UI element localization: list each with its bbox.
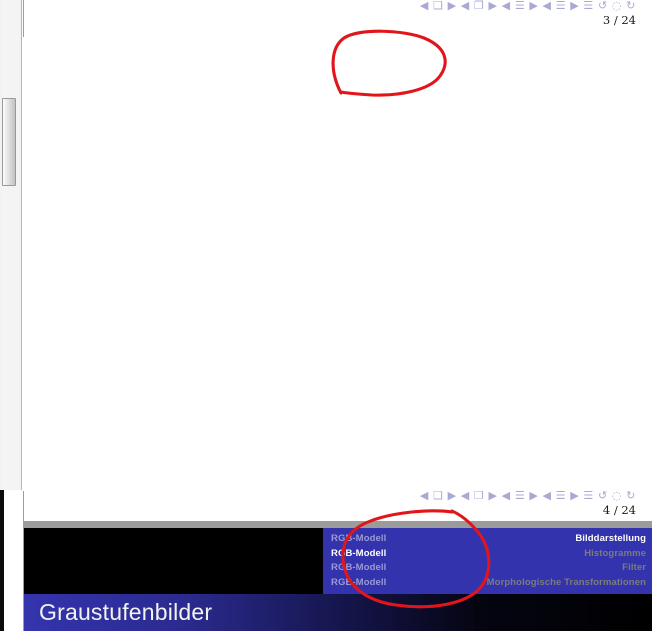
header-separator <box>24 521 652 528</box>
nav-sections-panel <box>24 528 323 594</box>
beamer-nav-symbols[interactable]: ◀ ❑ ▶ ◀ ❐ ▶ ◀ ☰ ▶ ◀ ☰ ▶ ☰ ↺ ◌ ↻ <box>376 0 636 12</box>
slide-navigation-bar[interactable]: Bilddarstellung Histogramme Filter Morph… <box>24 528 652 594</box>
nav-subsection-2[interactable]: RGB-Modell <box>331 547 386 562</box>
nav-subsection-list: RGB-Modell RGB-Modell RGB-Modell RGB-Mod… <box>331 532 386 590</box>
nav-subsection-1[interactable]: RGB-Modell <box>331 532 386 547</box>
vertical-scrollbar-thumb[interactable] <box>2 98 16 186</box>
gutter-white-strip <box>4 490 22 631</box>
slide-title-bar: Graustufenbilder <box>24 594 652 631</box>
page-number: 3 / 24 <box>603 13 636 27</box>
nav-section-list: Bilddarstellung Histogramme Filter Morph… <box>356 532 646 590</box>
nav-section-bilddarstellung[interactable]: Bilddarstellung <box>356 532 646 547</box>
slide-title: Graustufenbilder <box>39 599 212 626</box>
slide-body: Jede Grundfarbe hat 256 = 28 (8-Bit) ver… <box>24 0 652 37</box>
pdf-viewer-screen: ◀ ❑ ▶ ◀ ❐ ▶ ◀ ☰ ▶ ◀ ☰ ▶ ☰ ↺ ◌ ↻ 3 / 24 B… <box>0 0 652 631</box>
nav-subsection-3[interactable]: RGB-Modell <box>331 561 386 576</box>
red-circle-slide3 <box>333 31 445 95</box>
nav-section-morphologische-transformationen[interactable]: Morphologische Transformationen <box>356 576 646 591</box>
slide-page-3: ◀ ❑ ▶ ◀ ❐ ▶ ◀ ☰ ▶ ◀ ☰ ▶ ☰ ↺ ◌ ↻ 3 / 24 B… <box>23 0 652 37</box>
beamer-nav-symbols[interactable]: ◀ ❑ ▶ ◀ ❐ ▶ ◀ ☰ ▶ ◀ ☰ ▶ ☰ ↺ ◌ ↻ <box>376 491 636 502</box>
nav-section-histogramme[interactable]: Histogramme <box>356 547 646 562</box>
page-number: 4 / 24 <box>603 503 636 517</box>
nav-subsection-4[interactable]: RGB-Modell <box>331 576 386 591</box>
nav-section-filter[interactable]: Filter <box>356 561 646 576</box>
slide-page-4: ◀ ❑ ▶ ◀ ❐ ▶ ◀ ☰ ▶ ◀ ☰ ▶ ☰ ↺ ◌ ↻ 4 / 24 B… <box>23 491 652 631</box>
